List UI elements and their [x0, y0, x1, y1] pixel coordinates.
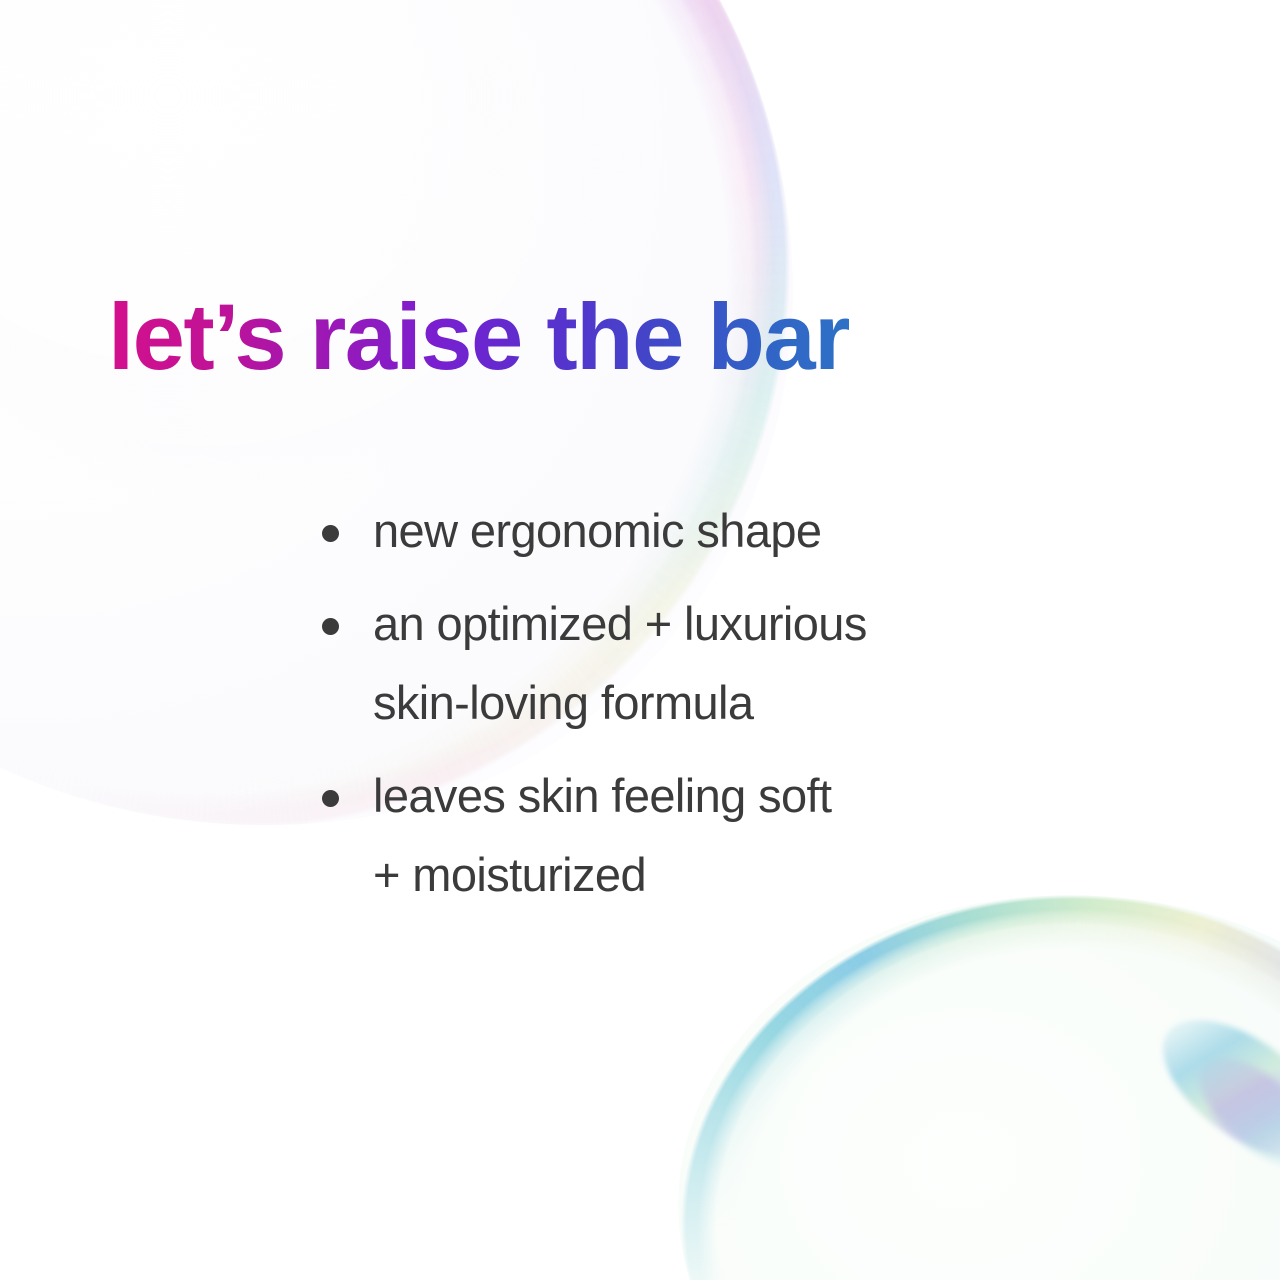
- bullet-dot-icon: [322, 618, 339, 635]
- list-item: new ergonomic shape: [318, 492, 1078, 571]
- list-item-label-continued: skin-loving formula: [373, 664, 1078, 743]
- list-item: an optimized + luxurious skin-loving for…: [318, 585, 1078, 743]
- page-title: let’s raise the bar: [108, 288, 849, 387]
- content-layer: let’s raise the bar new ergonomic shape …: [0, 0, 1280, 1280]
- list-item-label: leaves skin feeling soft: [373, 757, 1078, 836]
- promo-graphic-canvas: let’s raise the bar new ergonomic shape …: [0, 0, 1280, 1280]
- bullet-dot-icon: [322, 790, 339, 807]
- list-item-label-continued: + moisturized: [373, 836, 1078, 915]
- list-item-label: new ergonomic shape: [373, 492, 1078, 571]
- list-item-label: an optimized + luxurious: [373, 585, 1078, 664]
- list-item: leaves skin feeling soft + moisturized: [318, 757, 1078, 915]
- feature-bullet-list: new ergonomic shape an optimized + luxur…: [318, 492, 1078, 915]
- bullet-dot-icon: [322, 525, 339, 542]
